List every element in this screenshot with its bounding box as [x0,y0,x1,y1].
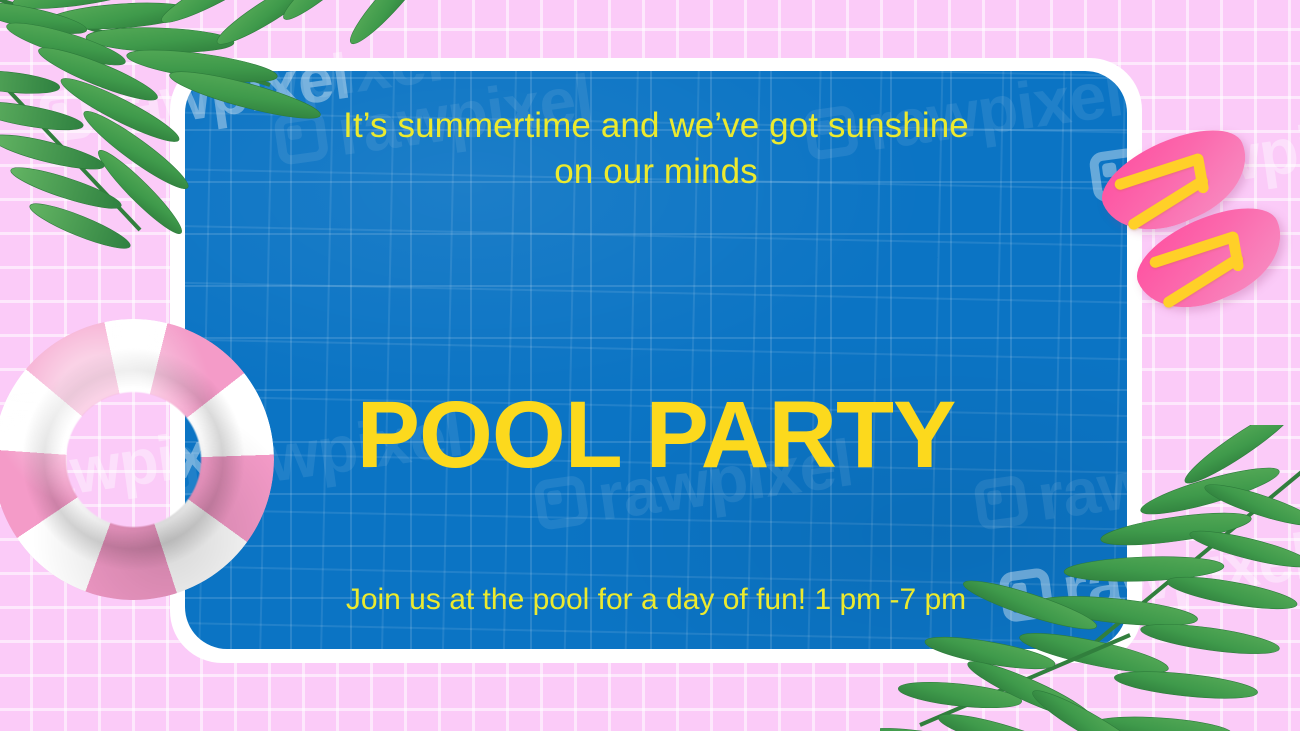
palm-frond-icon [0,0,440,260]
frond-group-d [1017,425,1300,731]
pool-ring-float-icon [0,319,274,600]
pool-party-poster: rawpixel rawpixel rawpixel rawpixel rawp… [0,0,1300,731]
palm-frond-icon [880,425,1300,731]
